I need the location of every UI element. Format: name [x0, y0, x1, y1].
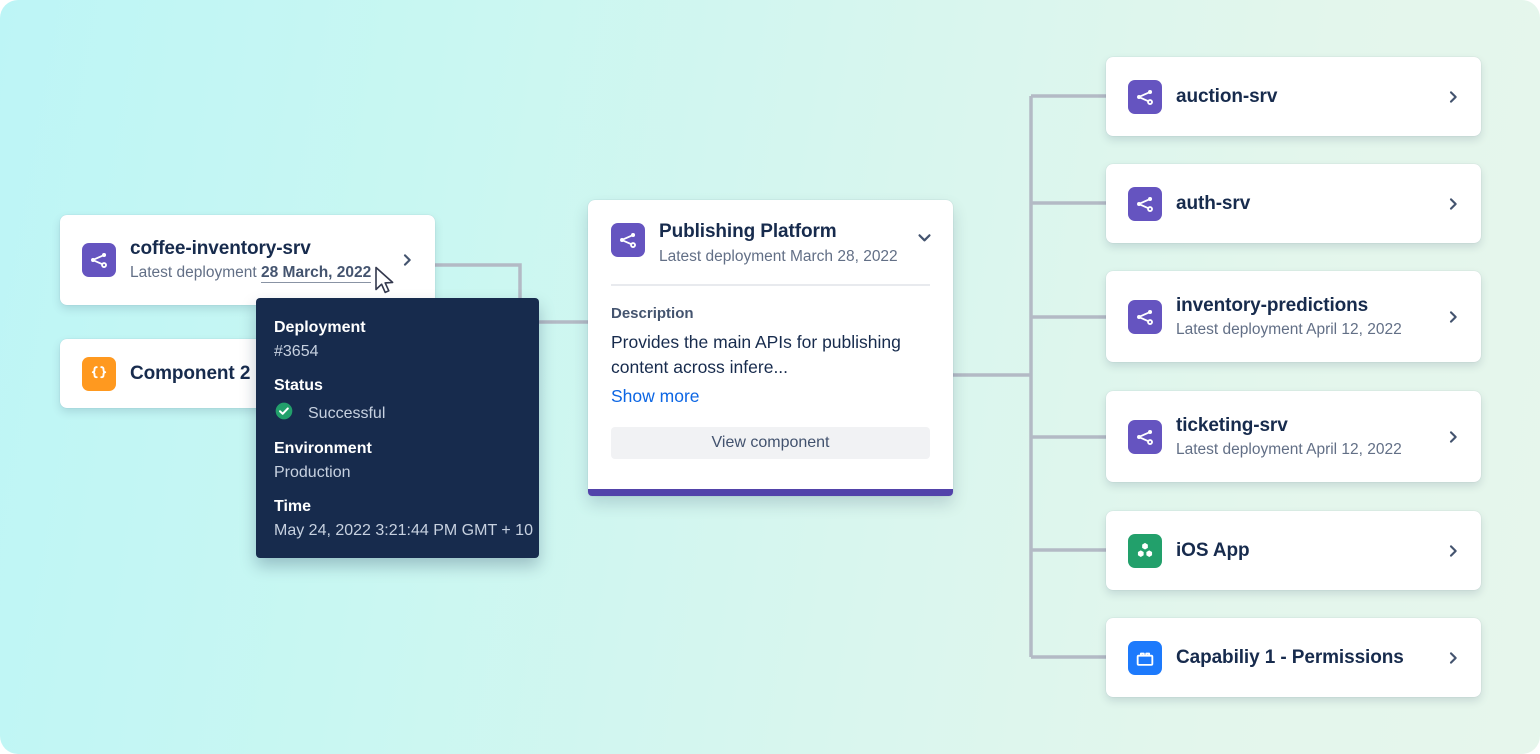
tooltip-value: May 24, 2022 3:21:44 PM GMT + 10	[274, 520, 519, 542]
card-ticketing-srv[interactable]: ticketing-srv Latest deployment April 12…	[1106, 391, 1481, 482]
share-nodes-icon	[1128, 80, 1162, 114]
card-publishing-platform[interactable]: Publishing Platform Latest deployment Ma…	[588, 200, 953, 496]
chevron-down-icon[interactable]	[916, 229, 933, 246]
view-component-button[interactable]: View component	[611, 427, 930, 459]
card-accent-bar	[588, 489, 953, 496]
lego-brick-icon	[1128, 641, 1162, 675]
detail-card-body: Description Provides the main APIs for p…	[588, 286, 953, 409]
tooltip-field-deployment: Deployment #3654	[274, 317, 519, 363]
tooltip-label: Environment	[274, 438, 519, 460]
card-capability-1-permissions[interactable]: Capabiliy 1 - Permissions	[1106, 618, 1481, 697]
description-text: Provides the main APIs for publishing co…	[611, 330, 930, 380]
share-nodes-icon	[1128, 420, 1162, 454]
detail-card-subtitle: Latest deployment March 28, 2022	[659, 246, 898, 267]
description-label: Description	[611, 304, 930, 324]
card-subtitle: Latest deployment April 12, 2022	[1176, 439, 1431, 460]
chevron-right-icon[interactable]	[1445, 196, 1461, 212]
detail-card-title: Publishing Platform	[659, 220, 898, 244]
tooltip-field-environment: Environment Production	[274, 438, 519, 484]
card-ios-app[interactable]: iOS App	[1106, 511, 1481, 590]
card-title: ticketing-srv	[1176, 414, 1431, 438]
card-auction-srv[interactable]: auction-srv	[1106, 57, 1481, 136]
card-title: auction-srv	[1176, 85, 1431, 109]
card-title: coffee-inventory-srv	[130, 237, 385, 261]
deployment-date-link[interactable]: 28 March, 2022	[261, 264, 371, 283]
share-nodes-icon	[82, 243, 116, 277]
card-inventory-predictions[interactable]: inventory-predictions Latest deployment …	[1106, 271, 1481, 362]
card-title: iOS App	[1176, 539, 1431, 563]
card-subtitle: Latest deployment April 12, 2022	[1176, 319, 1431, 340]
chevron-right-icon[interactable]	[1445, 429, 1461, 445]
tooltip-value: Production	[274, 462, 519, 484]
card-title: Capabiliy 1 - Permissions	[1176, 646, 1431, 670]
share-nodes-icon	[1128, 300, 1162, 334]
tooltip-field-time: Time May 24, 2022 3:21:44 PM GMT + 10	[274, 496, 519, 542]
chevron-right-icon[interactable]	[1445, 650, 1461, 666]
deployment-tooltip: Deployment #3654 Status Successful Envir…	[256, 298, 539, 558]
chevron-right-icon[interactable]	[1445, 543, 1461, 559]
check-circle-icon	[274, 401, 294, 426]
tooltip-value: #3654	[274, 341, 519, 363]
tooltip-label: Deployment	[274, 317, 519, 339]
share-nodes-icon	[1128, 187, 1162, 221]
tooltip-label: Status	[274, 375, 519, 397]
tooltip-field-status: Status Successful	[274, 375, 519, 426]
card-title: inventory-predictions	[1176, 294, 1431, 318]
detail-card-header: Publishing Platform Latest deployment Ma…	[588, 200, 953, 267]
dependency-graph-canvas: coffee-inventory-srv Latest deployment 2…	[0, 0, 1540, 754]
hexagon-cluster-icon	[1128, 534, 1162, 568]
card-auth-srv[interactable]: auth-srv	[1106, 164, 1481, 243]
card-subtitle: Latest deployment 28 March, 2022	[130, 262, 385, 283]
card-coffee-inventory-srv[interactable]: coffee-inventory-srv Latest deployment 2…	[60, 215, 435, 305]
deployment-prefix: Latest deployment	[130, 264, 261, 281]
curly-braces-icon	[82, 357, 116, 391]
chevron-right-icon[interactable]	[399, 252, 415, 268]
card-title: auth-srv	[1176, 192, 1431, 216]
chevron-right-icon[interactable]	[1445, 89, 1461, 105]
share-nodes-icon	[611, 223, 645, 257]
chevron-right-icon[interactable]	[1445, 309, 1461, 325]
tooltip-status-value: Successful	[308, 403, 385, 425]
tooltip-label: Time	[274, 496, 519, 518]
show-more-link[interactable]: Show more	[611, 384, 700, 409]
